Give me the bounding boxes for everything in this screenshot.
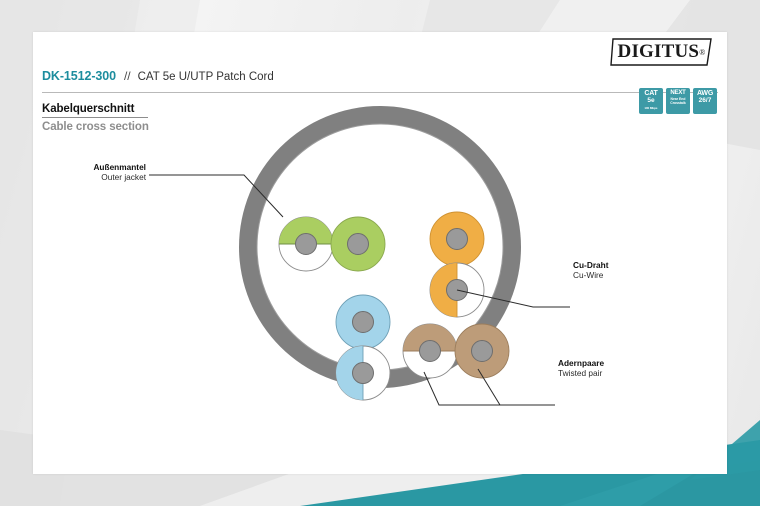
- slide-root: DIGITUS® DK-1512-300 // CAT 5e U/UTP Pat…: [0, 0, 760, 506]
- label-outer-jacket: Außenmantel Outer jacket: [33, 162, 146, 183]
- wire-brown-solid: [455, 324, 509, 378]
- cable-cross-section-diagram: [33, 32, 727, 474]
- label-twisted-pair: Adernpaare Twisted pair: [558, 358, 604, 379]
- wire-green-solid: [331, 217, 385, 271]
- wire-green-white: [279, 217, 333, 271]
- wire-blue-solid: [336, 295, 390, 349]
- wire-orange-solid: [430, 212, 484, 266]
- label-outer-jacket-en: Outer jacket: [33, 172, 146, 182]
- label-cu-wire: Cu-Draht Cu-Wire: [573, 260, 609, 281]
- content-card: DIGITUS® DK-1512-300 // CAT 5e U/UTP Pat…: [33, 32, 727, 474]
- wire-blue-white: [336, 346, 390, 400]
- label-twisted-pair-de: Adernpaare: [558, 358, 604, 368]
- label-cu-wire-en: Cu-Wire: [573, 270, 609, 280]
- label-twisted-pair-en: Twisted pair: [558, 368, 604, 378]
- label-cu-wire-de: Cu-Draht: [573, 260, 609, 270]
- label-outer-jacket-de: Außenmantel: [33, 162, 146, 172]
- wire-brown-white: [403, 324, 457, 378]
